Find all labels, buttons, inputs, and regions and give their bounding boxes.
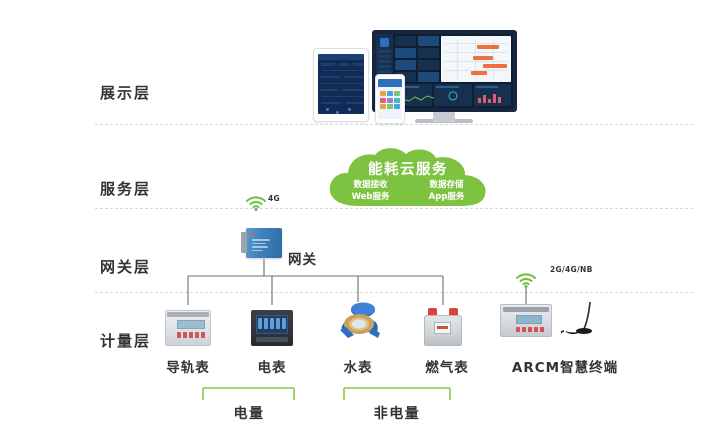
din-rail-meter-icon[interactable] [165, 310, 211, 346]
monitor-dashboard [393, 34, 513, 108]
cloud-title: 能耗云服务 [318, 158, 498, 179]
cloud-text-web-service: Web服务 [352, 191, 390, 203]
display-layer-devices [305, 12, 535, 117]
layer-label-gateway: 网关层 [100, 256, 190, 277]
meter-label-electric: 电表 [250, 356, 294, 376]
layer-label-service: 服务层 [100, 178, 190, 199]
monitor-neck [433, 112, 455, 122]
antenna-icon [560, 300, 598, 340]
wifi-icon-terminal [515, 272, 537, 288]
separator-display-service [95, 124, 693, 125]
meter-label-gas: 燃气表 [419, 356, 475, 376]
gateway-label: 网关 [288, 248, 317, 268]
bracket-label-electric: 电量 [219, 403, 279, 423]
arcm-terminal-icon[interactable] [500, 304, 552, 337]
panel-meter-icon[interactable] [251, 310, 293, 346]
bracket-label-non-electric: 非电量 [362, 403, 432, 423]
cloud-text-app-service: App服务 [429, 191, 465, 203]
gateway-network-label: 4G [268, 194, 280, 203]
layer-label-display: 展示层 [100, 82, 190, 103]
monitor-map-panel [441, 36, 511, 82]
separator-gateway-metering [95, 292, 693, 293]
architecture-diagram: 展示层 服务层 网关层 计量层 [0, 0, 715, 443]
terminal-network-label: 2G/4G/NB [550, 265, 593, 274]
cloud-text-data-receive: 数据接收 [352, 179, 390, 191]
smartphone-icon [375, 74, 405, 124]
meter-label-water: 水表 [336, 356, 380, 376]
terminal-label: ARCM智慧终端 [500, 356, 630, 376]
wifi-icon-gateway [245, 195, 267, 211]
gateway-device-icon[interactable] [246, 228, 282, 258]
cloud-text-data-storage: 数据存储 [429, 179, 465, 191]
tablet-screen [318, 54, 364, 114]
monitor-gauge-panel [434, 84, 471, 106]
tablet-icon [313, 48, 369, 122]
cloud-column-storage: 数据存储 App服务 [429, 179, 465, 204]
gas-meter-icon[interactable] [423, 308, 463, 346]
cloud-service-node[interactable]: 能耗云服务 数据接收 Web服务 数据存储 App服务 [318, 148, 498, 210]
smartphone-screen [378, 79, 402, 119]
water-meter-icon[interactable] [334, 302, 384, 342]
monitor-bar-panel [474, 84, 511, 106]
cloud-column-receive: 数据接收 Web服务 [352, 179, 390, 204]
meter-label-din-rail: 导轨表 [160, 356, 216, 376]
